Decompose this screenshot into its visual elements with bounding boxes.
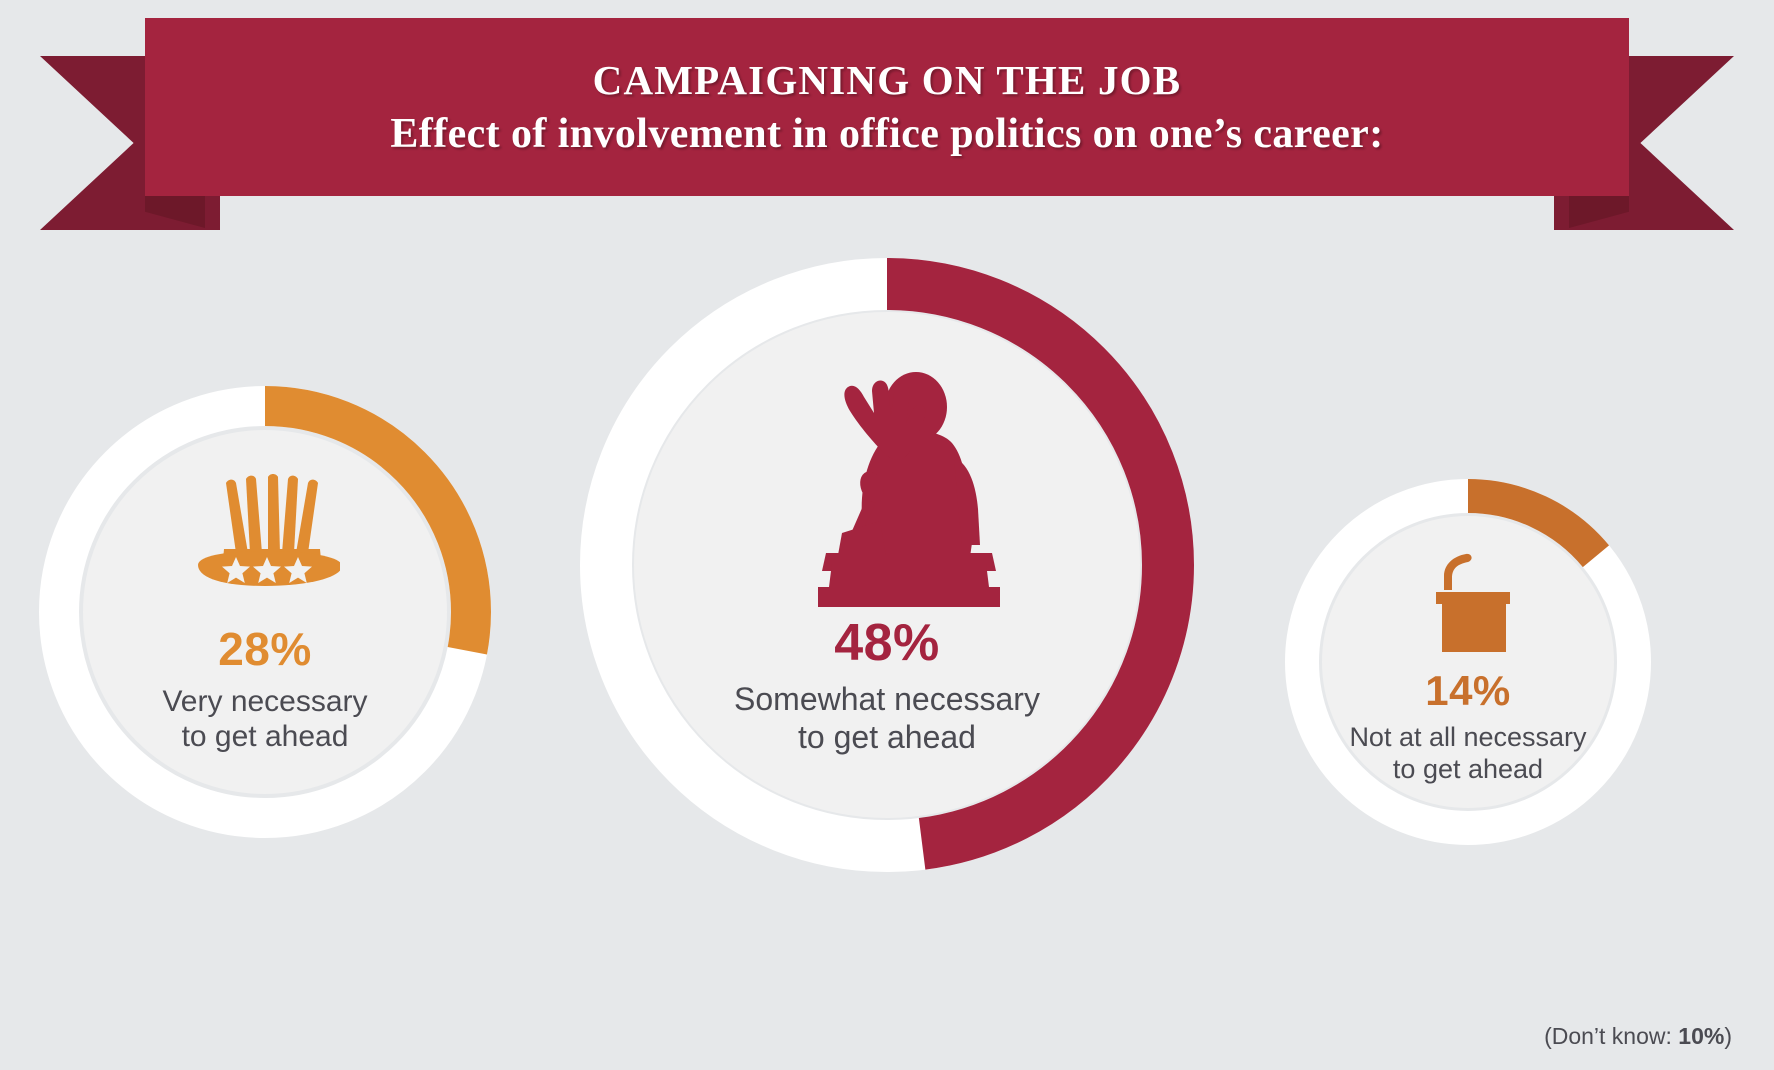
top-hat-icon [190, 460, 340, 610]
donut-inner-somewhat: 48% Somewhat necessary to get ahead [634, 312, 1140, 818]
footnote-value: 10% [1678, 1023, 1724, 1049]
donut-label-very-line1: Very necessary [162, 685, 367, 718]
donut-label-notatall: Not at all necessary to get ahead [1349, 722, 1586, 786]
donut-label-somewhat-line1: Somewhat necessary [734, 681, 1040, 717]
banner: CAMPAIGNING ON THE JOB Effect of involve… [0, 18, 1774, 230]
donut-label-very-line2: to get ahead [182, 720, 349, 753]
lectern-icon [1414, 538, 1522, 660]
podium-speaker-icon [756, 354, 1018, 609]
footnote-suffix: ) [1724, 1023, 1732, 1049]
footnote-prefix: (Don’t know: [1544, 1023, 1678, 1049]
dont-know-footnote: (Don’t know: 10%) [1544, 1023, 1732, 1050]
donut-label-very: Very necessary to get ahead [162, 684, 367, 755]
donut-chart-very-necessary: 28% Very necessary to get ahead [35, 382, 495, 842]
banner-title-main: CAMPAIGNING ON THE JOB [593, 56, 1182, 104]
donut-label-notatall-line1: Not at all necessary [1349, 722, 1586, 752]
donut-chart-group: 28% Very necessary to get ahead [0, 250, 1774, 870]
donut-inner-notatall: 14% Not at all necessary to get ahead [1322, 516, 1614, 808]
donut-label-notatall-line2: to get ahead [1393, 754, 1543, 784]
donut-chart-somewhat-necessary: 48% Somewhat necessary to get ahead [577, 255, 1197, 875]
donut-percent-somewhat: 48% [834, 617, 940, 669]
donut-chart-not-at-all-necessary: 14% Not at all necessary to get ahead [1282, 476, 1654, 848]
donut-percent-notatall: 14% [1425, 670, 1511, 712]
banner-title-sub: Effect of involvement in office politics… [390, 110, 1383, 158]
donut-label-somewhat: Somewhat necessary to get ahead [734, 681, 1040, 757]
donut-label-somewhat-line2: to get ahead [798, 719, 976, 755]
donut-percent-very: 28% [218, 626, 312, 672]
ribbon-body: CAMPAIGNING ON THE JOB Effect of involve… [145, 18, 1629, 196]
donut-inner-very: 28% Very necessary to get ahead [83, 430, 447, 794]
